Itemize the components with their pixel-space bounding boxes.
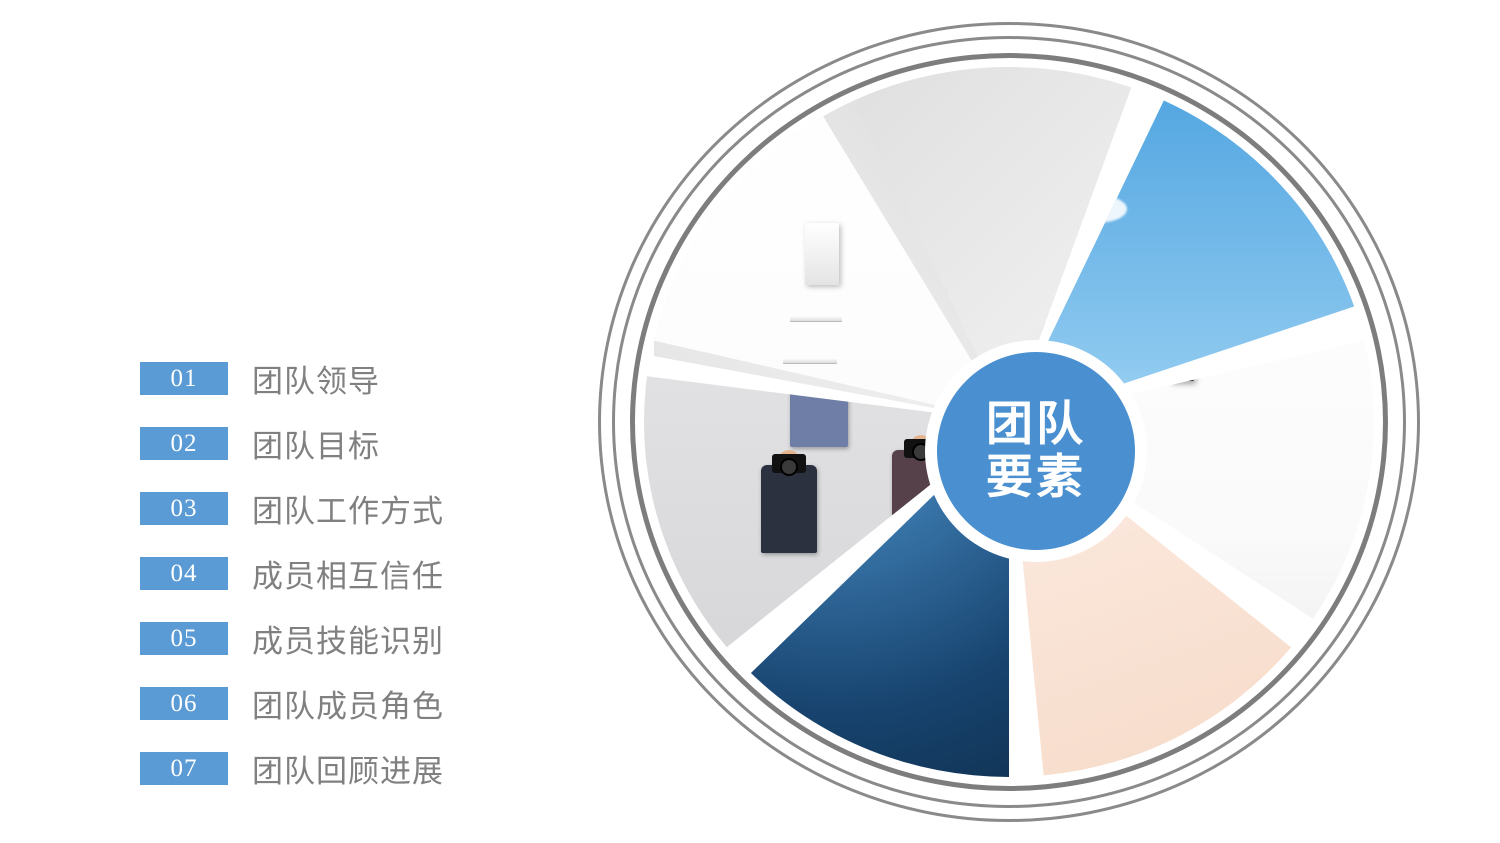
white-door (805, 223, 839, 285)
hub-title-line-2: 要素 (986, 451, 1086, 504)
agenda-item-label: 团队目标 (252, 421, 380, 466)
list-item[interactable]: 07 团队回顾进展 (140, 752, 560, 785)
agenda-item-label: 团队工作方式 (252, 486, 444, 531)
wheel-center-hub[interactable]: 团队 要素 (937, 352, 1135, 550)
list-item[interactable]: 06 团队成员角色 (140, 687, 560, 720)
agenda-item-label: 团队领导 (252, 356, 380, 401)
agenda-number-badge: 03 (140, 492, 228, 525)
hub-title-line-1: 团队 (986, 398, 1086, 451)
agenda-number-badge: 07 (140, 752, 228, 785)
list-item[interactable]: 02 团队目标 (140, 427, 560, 460)
list-item[interactable]: 04 成员相互信任 (140, 557, 560, 590)
list-item[interactable]: 05 成员技能识别 (140, 622, 560, 655)
wheel-diagram: 团队 要素 (598, 22, 1420, 822)
list-item[interactable]: 01 团队领导 (140, 362, 560, 395)
agenda-number-badge: 01 (140, 362, 228, 395)
agenda-number-badge: 04 (140, 557, 228, 590)
agenda-item-label: 成员技能识别 (252, 616, 444, 661)
agenda-item-label: 团队成员角色 (252, 681, 444, 726)
agenda-number-badge: 05 (140, 622, 228, 655)
agenda-list: 01 团队领导 02 团队目标 03 团队工作方式 04 成员相互信任 05 成… (140, 362, 560, 785)
agenda-number-badge: 02 (140, 427, 228, 460)
list-item[interactable]: 03 团队工作方式 (140, 492, 560, 525)
agenda-item-label: 团队回顾进展 (252, 746, 444, 791)
slide-canvas: 01 团队领导 02 团队目标 03 团队工作方式 04 成员相互信任 05 成… (0, 0, 1500, 843)
agenda-item-label: 成员相互信任 (252, 551, 444, 596)
agenda-number-badge: 06 (140, 687, 228, 720)
